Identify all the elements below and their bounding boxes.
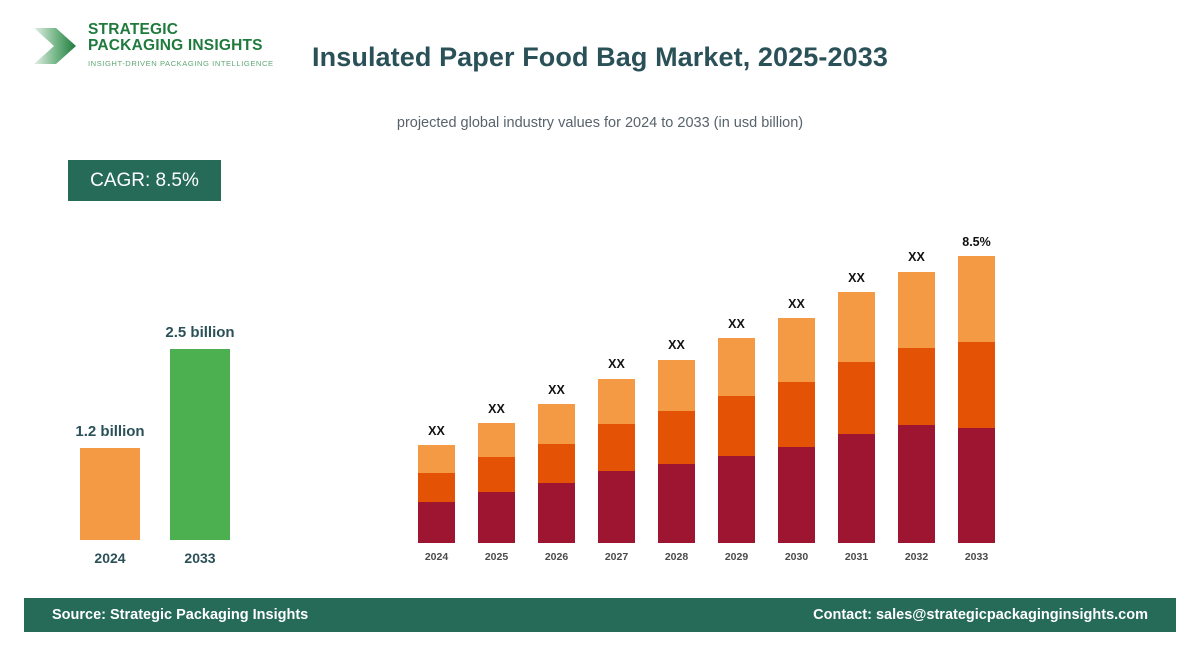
bar-value-label-2033: 8.5%	[958, 235, 995, 249]
comparison-year-label-2024: 2024	[65, 550, 155, 566]
bar-value-label-2024: XX	[418, 424, 455, 438]
bar-year-label-2030: 2030	[778, 551, 815, 563]
brand-name-line1: STRATEGIC	[88, 22, 274, 38]
bar-segment-segment-bottom-2028	[658, 464, 695, 543]
comparison-bar-2033	[170, 349, 230, 540]
bar-value-label-2026: XX	[538, 383, 575, 397]
bar-segment-segment-bottom-2025	[478, 492, 515, 543]
bar-segment-segment-middle-2030	[778, 382, 815, 448]
bar-segment-segment-middle-2031	[838, 362, 875, 434]
page-title: Insulated Paper Food Bag Market, 2025-20…	[0, 42, 1200, 73]
stacked-bar-2027	[598, 378, 635, 543]
cagr-badge: CAGR: 8.5%	[68, 160, 221, 201]
bar-segment-segment-top-2033	[958, 256, 995, 342]
footer-contact-text: Contact: sales@strategicpackaginginsight…	[813, 607, 1148, 623]
bar-segment-segment-bottom-2024	[418, 502, 455, 543]
stacked-bar-2033	[958, 256, 995, 543]
bar-value-label-2028: XX	[658, 338, 695, 352]
bar-segment-segment-middle-2029	[718, 396, 755, 456]
stacked-bar-2026	[538, 404, 575, 543]
bar-year-label-2025: 2025	[478, 551, 515, 563]
bar-value-label-2027: XX	[598, 357, 635, 371]
bar-segment-segment-top-2032	[898, 272, 935, 348]
bar-segment-segment-middle-2028	[658, 411, 695, 464]
bar-segment-segment-bottom-2026	[538, 483, 575, 543]
bar-segment-segment-bottom-2033	[958, 428, 995, 543]
bar-segment-segment-top-2025	[478, 423, 515, 457]
bar-segment-segment-middle-2025	[478, 457, 515, 492]
bar-value-label-2032: XX	[898, 250, 935, 264]
comparison-bar-2024	[80, 448, 140, 540]
bar-segment-segment-middle-2026	[538, 444, 575, 484]
stacked-bar-2031	[838, 292, 875, 543]
page-subtitle: projected global industry values for 202…	[0, 115, 1200, 131]
bar-year-label-2029: 2029	[718, 551, 755, 563]
stacked-bar-2028	[658, 359, 695, 543]
stacked-bar-2024	[418, 445, 455, 543]
bar-value-label-2031: XX	[838, 271, 875, 285]
bar-year-label-2026: 2026	[538, 551, 575, 563]
bar-segment-segment-middle-2027	[598, 424, 635, 471]
bar-segment-segment-middle-2033	[958, 342, 995, 428]
stacked-bar-2032	[898, 271, 935, 543]
bar-segment-segment-top-2030	[778, 318, 815, 382]
bar-value-label-2029: XX	[718, 317, 755, 331]
bar-segment-segment-top-2026	[538, 404, 575, 444]
footer-source-text: Source: Strategic Packaging Insights	[52, 607, 308, 623]
bar-year-label-2031: 2031	[838, 551, 875, 563]
bar-segment-segment-top-2027	[598, 379, 635, 424]
bar-year-label-2033: 2033	[958, 551, 995, 563]
bar-year-label-2027: 2027	[598, 551, 635, 563]
bar-segment-segment-top-2024	[418, 445, 455, 473]
stacked-bar-2030	[778, 318, 815, 543]
comparison-year-label-2033: 2033	[155, 550, 245, 566]
stacked-bar-2029	[718, 338, 755, 543]
bar-year-label-2028: 2028	[658, 551, 695, 563]
comparison-chart: 1.2 billion20242.5 billion2033	[40, 300, 320, 570]
footer-bar: Source: Strategic Packaging Insights Con…	[24, 598, 1176, 632]
bar-segment-segment-bottom-2031	[838, 434, 875, 543]
bar-value-label-2030: XX	[778, 297, 815, 311]
bar-segment-segment-bottom-2032	[898, 425, 935, 543]
comparison-value-label-2024: 1.2 billion	[55, 423, 165, 440]
bar-year-label-2024: 2024	[418, 551, 455, 563]
stacked-bar-chart: XX2024XX2025XX2026XX2027XX2028XX2029XX20…	[410, 190, 1010, 565]
bar-year-label-2032: 2032	[898, 551, 935, 563]
bar-segment-segment-top-2028	[658, 360, 695, 411]
bar-segment-segment-bottom-2029	[718, 456, 755, 543]
stacked-bar-2025	[478, 423, 515, 543]
comparison-value-label-2033: 2.5 billion	[145, 324, 255, 341]
bar-segment-segment-top-2029	[718, 338, 755, 396]
bar-segment-segment-middle-2032	[898, 348, 935, 425]
bar-value-label-2025: XX	[478, 402, 515, 416]
bar-segment-segment-bottom-2027	[598, 471, 635, 543]
bar-segment-segment-top-2031	[838, 292, 875, 362]
bar-segment-segment-bottom-2030	[778, 447, 815, 543]
bar-segment-segment-middle-2024	[418, 473, 455, 502]
